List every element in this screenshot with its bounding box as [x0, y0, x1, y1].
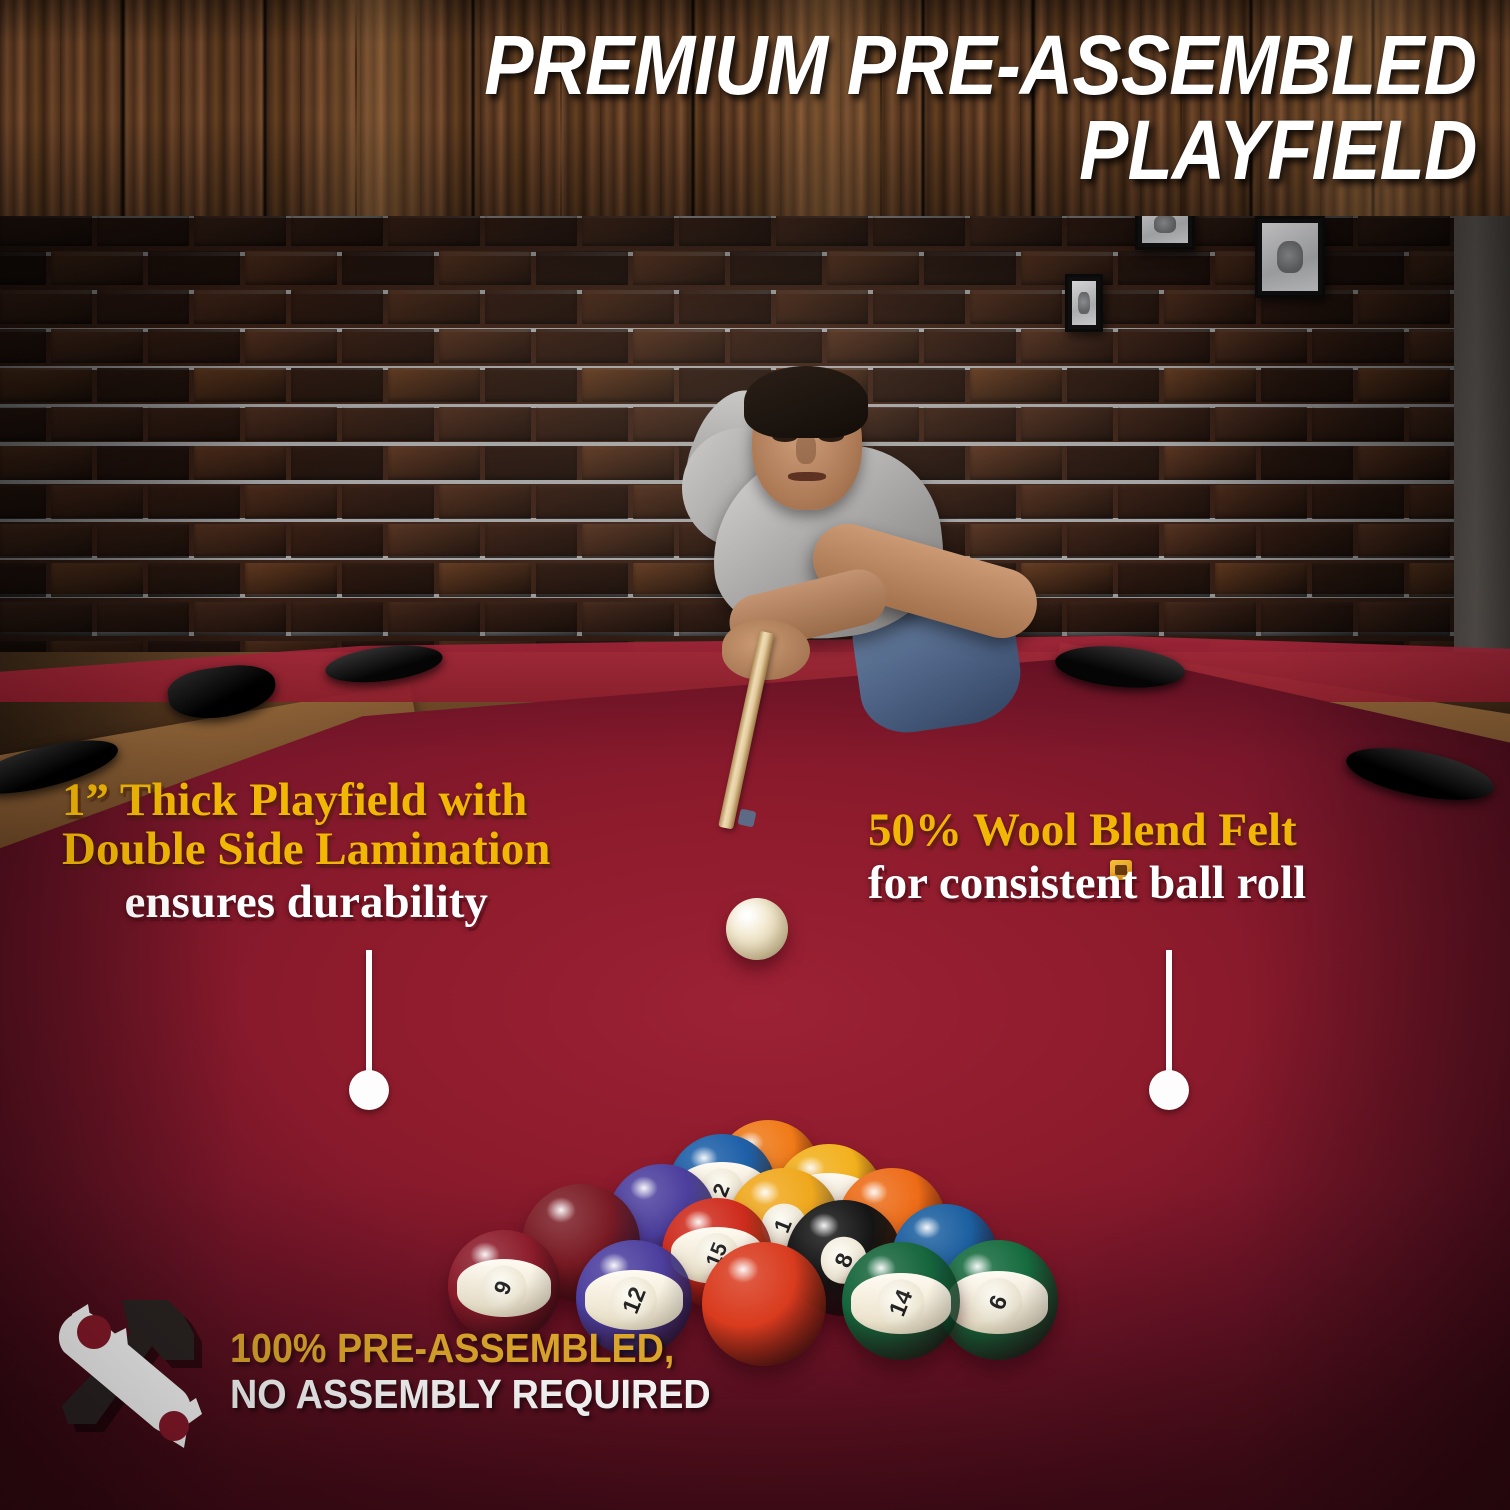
ball-highlight: [866, 1255, 897, 1281]
billiard-ball-14: 14: [842, 1242, 960, 1360]
billiards-player: [660, 370, 1060, 790]
wall-picture-frame: [1065, 274, 1103, 332]
player-nose: [796, 434, 816, 464]
ball-highlight: [860, 1180, 888, 1204]
wall-picture-frame: [1255, 216, 1325, 298]
ball-highlight: [470, 1242, 499, 1267]
title-line-2: PLAYFIELD: [1079, 110, 1476, 191]
ball-highlight: [630, 1176, 658, 1200]
callout-pointer-dot-left: [349, 1070, 389, 1110]
ball-highlight: [913, 1216, 941, 1239]
header-title-block: PREMIUM PRE-ASSEMBLED PLAYFIELD: [0, 0, 1510, 216]
ball-highlight: [690, 1146, 718, 1170]
ball-shading: [842, 1242, 960, 1360]
frame-mat: [1072, 281, 1096, 325]
header-banner: PREMIUM PRE-ASSEMBLED PLAYFIELD: [0, 0, 1510, 216]
title-line-1: PREMIUM PRE-ASSEMBLED: [484, 25, 1476, 106]
cue-ball: [726, 898, 788, 960]
callout-pointer-dot-right: [1149, 1070, 1189, 1110]
tools-icon-group: [48, 1298, 218, 1453]
ball-highlight: [750, 1180, 779, 1205]
callout-pointer-line-right: [1166, 950, 1172, 1085]
callout-playfield-gold-line-2: Double Side Lamination: [62, 825, 550, 874]
player-hair: [744, 366, 868, 438]
frame-mat: [1262, 223, 1318, 291]
callout-pointer-line-left: [366, 950, 372, 1085]
wall-picture-frame: [1135, 212, 1195, 250]
ball-highlight: [962, 1253, 993, 1279]
ball-highlight: [546, 1197, 577, 1223]
frame-artwork: [1154, 215, 1176, 233]
frame-artwork: [1078, 292, 1090, 313]
ball-highlight: [727, 1256, 759, 1283]
badge-text-block: 100% PRE-ASSEMBLED, NO ASSEMBLY REQUIRED: [230, 1326, 752, 1417]
cue-tip: [738, 809, 757, 828]
ball-highlight: [684, 1210, 713, 1234]
frame-artwork: [1277, 241, 1304, 274]
callout-playfield-gold-line-1: 1” Thick Playfield with: [62, 776, 550, 825]
callout-felt-white-line: for consistent ball roll: [868, 859, 1306, 908]
frame-mat: [1142, 212, 1188, 243]
badge-line-1: 100% PRE-ASSEMBLED,: [230, 1326, 711, 1370]
callout-felt: 50% Wool Blend Felt for consistent ball …: [868, 806, 1306, 908]
badge-line-2: NO ASSEMBLY REQUIRED: [230, 1372, 711, 1416]
player-mouth: [788, 472, 826, 481]
pre-assembled-badge: 100% PRE-ASSEMBLED, NO ASSEMBLY REQUIRED: [48, 1298, 748, 1458]
callout-playfield: 1” Thick Playfield with Double Side Lami…: [62, 776, 550, 927]
callout-playfield-white-line: ensures durability: [62, 878, 550, 927]
callout-felt-gold-line: 50% Wool Blend Felt: [868, 806, 1306, 855]
tools-svg: [48, 1298, 218, 1453]
product-marketing-image: PREMIUM PRE-ASSEMBLED PLAYFIELD: [0, 0, 1510, 1510]
